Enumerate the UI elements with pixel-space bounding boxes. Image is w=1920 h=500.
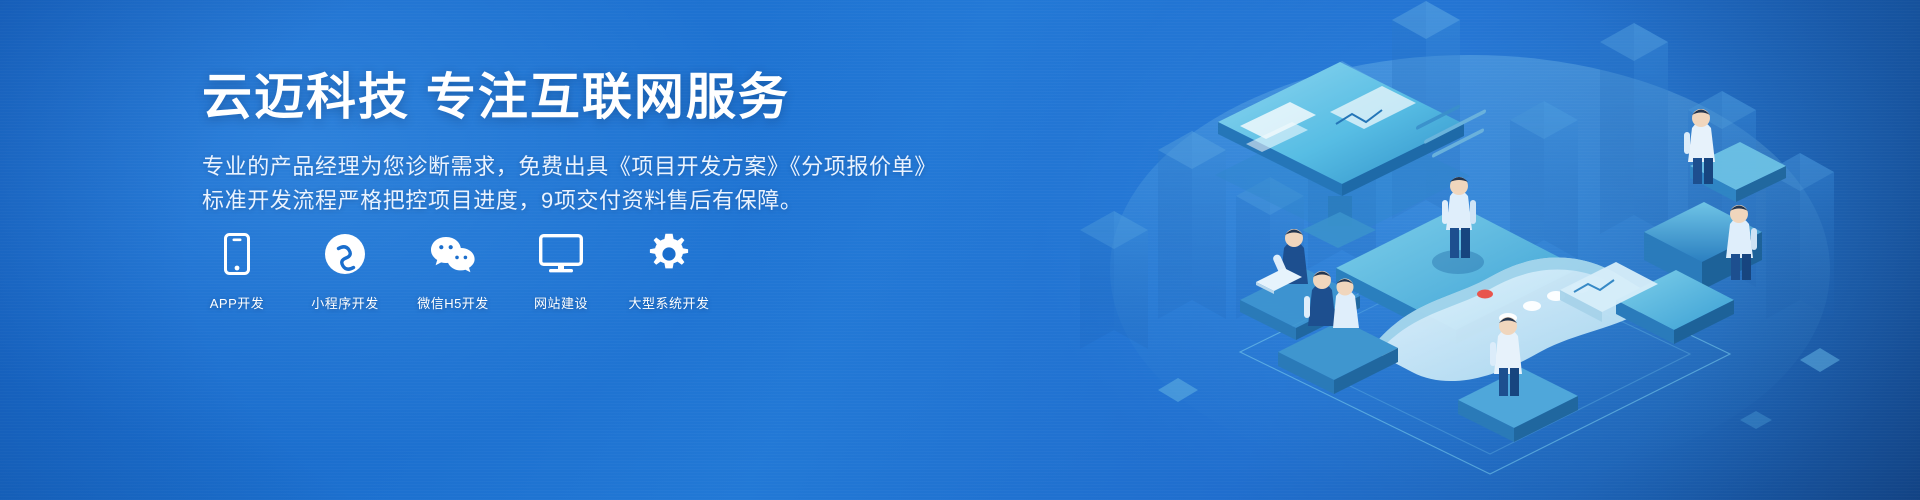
hero-copy: 云迈科技 专注互联网服务 专业的产品经理为您诊断需求，免费出具《项目开发方案》《…: [202, 66, 922, 218]
person-lower-right: [1490, 317, 1522, 396]
service-label: 大型系统开发: [629, 293, 710, 312]
person-upper-right: [1684, 109, 1715, 184]
service-item-website[interactable]: 网站建设: [524, 232, 598, 312]
service-list: APP开发 小程序开发 微信: [200, 232, 706, 312]
mini-program-icon: [324, 232, 366, 276]
service-label: 微信H5开发: [417, 293, 489, 312]
service-item-app[interactable]: APP开发: [200, 232, 274, 312]
wechat-icon: [430, 232, 476, 276]
person-mid-right: [1726, 205, 1757, 280]
service-item-wechat-h5[interactable]: 微信H5开发: [416, 232, 490, 312]
monitor-icon: [539, 232, 583, 276]
service-item-mini-program[interactable]: 小程序开发: [308, 232, 382, 312]
mobile-phone-icon: [224, 232, 250, 276]
isometric-illustration: [1040, 0, 1920, 500]
service-label: APP开发: [210, 293, 265, 312]
person-lower-left-b: [1333, 279, 1359, 329]
service-label: 网站建设: [534, 293, 588, 312]
subtitle-line-2: 标准开发流程严格把控项目进度，9项交付资料售后有保障。: [202, 184, 922, 218]
service-label: 小程序开发: [311, 293, 379, 312]
person-seated-laptop: [1240, 229, 1360, 340]
subtitle-line-1: 专业的产品经理为您诊断需求，免费出具《项目开发方案》《分项报价单》: [202, 150, 922, 184]
hero-banner: 云迈科技 专注互联网服务 专业的产品经理为您诊断需求，免费出具《项目开发方案》《…: [0, 0, 1920, 500]
hero-subtitle: 专业的产品经理为您诊断需求，免费出具《项目开发方案》《分项报价单》 标准开发流程…: [202, 150, 922, 218]
service-item-large-system[interactable]: 大型系统开发: [632, 232, 706, 312]
person-standing: [1432, 177, 1484, 274]
page-title: 云迈科技 专注互联网服务: [202, 66, 922, 128]
gear-icon: [648, 232, 690, 276]
person-lower-left-a: [1304, 271, 1336, 326]
